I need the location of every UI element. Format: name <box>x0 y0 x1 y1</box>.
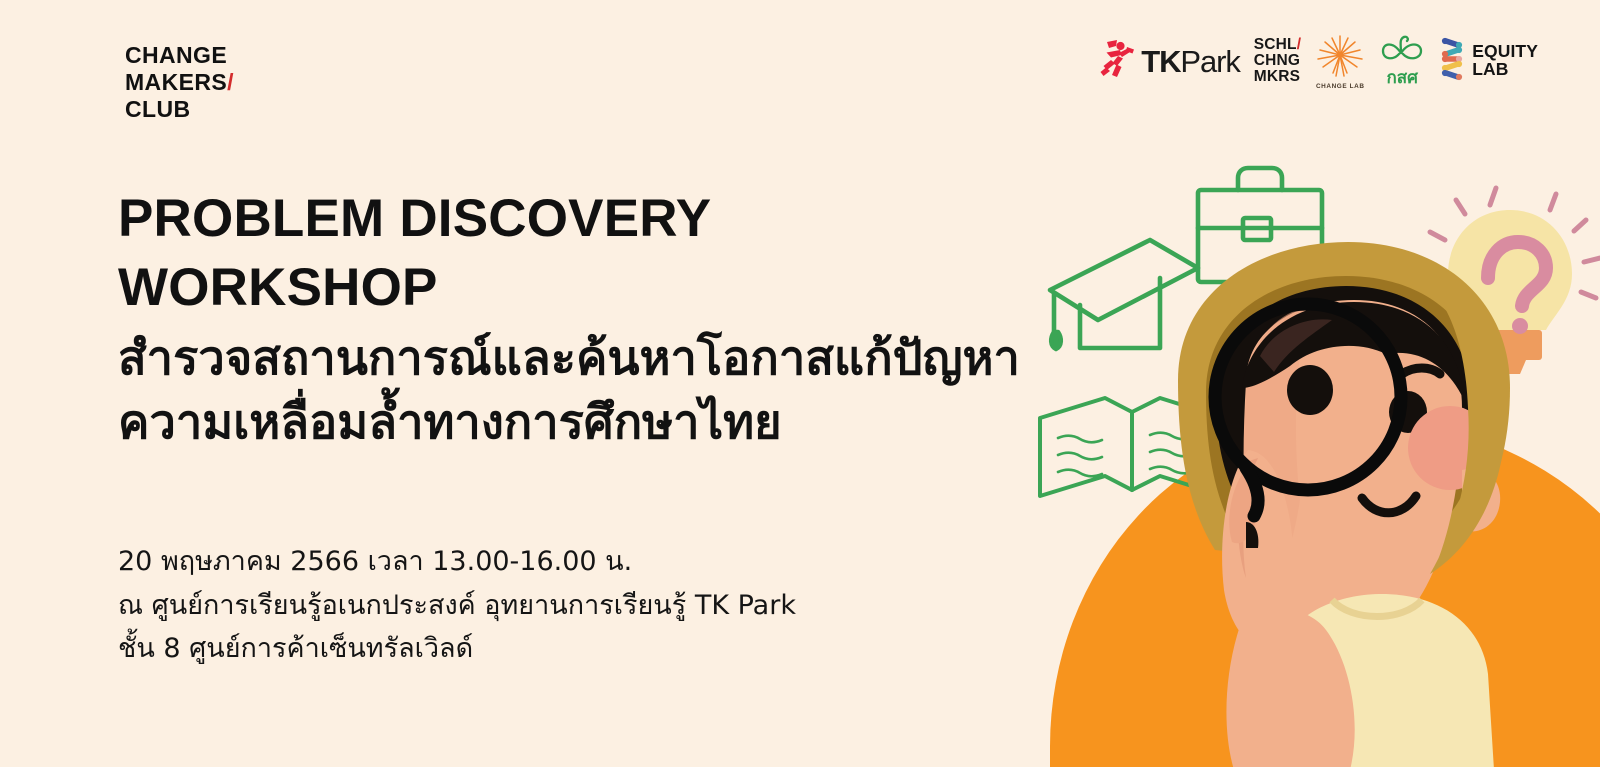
poster-canvas: CHANGE MAKERS/ CLUB <box>0 0 1600 767</box>
schl-line-3: MKRS <box>1254 69 1300 85</box>
dna-helix-icon <box>1439 36 1465 87</box>
event-details-block: 20 พฤษภาคม 2566 เวลา 13.00-16.00 น. ณ ศู… <box>118 540 978 671</box>
schl-text: SCHL <box>1254 36 1297 53</box>
boy-character <box>1178 242 1510 767</box>
tkpark-light: Park <box>1180 44 1239 79</box>
sunburst-icon <box>1315 33 1365 82</box>
schl-slash: / <box>1297 36 1302 53</box>
partner-kosoto: กสศ <box>1379 35 1425 87</box>
change-lab-caption: CHANGE LAB <box>1316 83 1365 90</box>
event-datetime: 20 พฤษภาคม 2566 เวลา 13.00-16.00 น. <box>118 540 978 584</box>
event-venue: ณ ศูนย์การเรียนรู้อเนกประสงค์ อุทยานการเ… <box>118 584 978 628</box>
tkpark-wordmark: TKPark <box>1141 46 1239 77</box>
tkpark-bold: TK <box>1141 44 1180 79</box>
partner-school-changemakers: SCHL/ CHNG MKRS <box>1254 37 1302 85</box>
title-thai: สำรวจสถานการณ์และค้นหาโอกาสแก้ปัญหา ความ… <box>118 327 1038 455</box>
equity-line-2: LAB <box>1472 59 1508 79</box>
running-person-icon <box>1100 39 1136 84</box>
title-english: PROBLEM DISCOVERY WORKSHOP <box>118 185 1038 323</box>
event-floor: ชั้น 8 ศูนย์การค้าเซ็นทรัลเวิลด์ <box>118 627 978 671</box>
hero-illustration <box>1010 150 1600 767</box>
brand-slash: / <box>227 69 234 95</box>
green-leaf-infinity-icon <box>1379 35 1425 70</box>
graduation-cap-icon <box>1050 240 1198 349</box>
brand-line-club: CLUB <box>125 96 234 123</box>
equity-lab-wordmark: EQUITY LAB <box>1472 43 1538 79</box>
partner-change-lab: CHANGE LAB <box>1315 33 1365 90</box>
headline-block: PROBLEM DISCOVERY WORKSHOP สำรวจสถานการณ… <box>118 185 1038 455</box>
brand-line-makers: MAKERS/ <box>125 69 234 96</box>
partner-logo-row: TKPark SCHL/ CHNG MKRS <box>1100 30 1538 92</box>
kosoto-text: กสศ <box>1387 70 1418 87</box>
schl-line-1: SCHL/ <box>1254 37 1302 53</box>
partner-tkpark: TKPark <box>1100 39 1239 84</box>
changemakers-club-logo: CHANGE MAKERS/ CLUB <box>125 42 234 123</box>
schl-line-2: CHNG <box>1254 53 1300 69</box>
partner-equity-lab: EQUITY LAB <box>1439 36 1538 87</box>
brand-line-change: CHANGE <box>125 42 234 69</box>
brand-makers-text: MAKERS <box>125 69 227 95</box>
